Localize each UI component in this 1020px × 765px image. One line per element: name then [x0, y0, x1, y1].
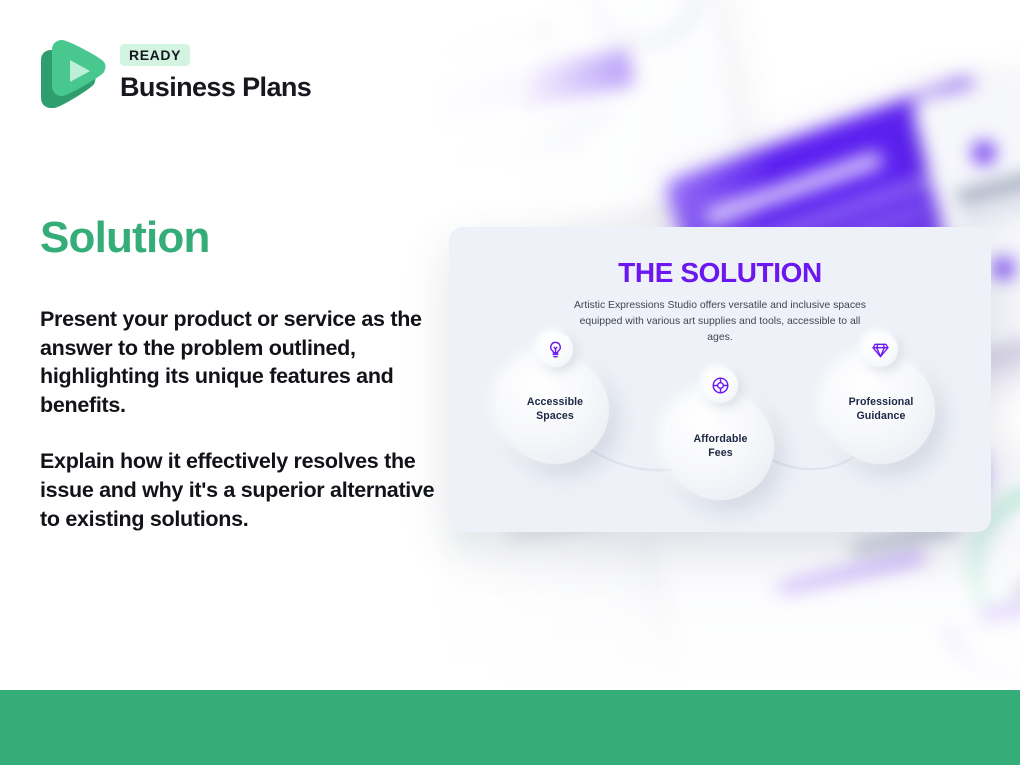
feature-bubble-professional-guidance[interactable]: Professional Guidance	[827, 356, 935, 464]
feature-bubble-label: Affordable Fees	[694, 433, 748, 460]
brand-text: READY Business Plans	[120, 38, 311, 101]
bg-ring-top	[573, 0, 714, 58]
presentation-slide: READY Business Plans Solution Present yo…	[0, 0, 1020, 765]
feature-label-line-1: Accessible	[527, 396, 583, 410]
lifebuoy-icon	[703, 368, 738, 403]
ready-badge: READY	[120, 44, 190, 66]
body-copy: Present your product or service as the a…	[40, 305, 440, 533]
feature-label-line-1: Professional	[849, 396, 914, 410]
page-title: Solution	[40, 215, 210, 261]
body-paragraph-2: Explain how it effectively resolves the …	[40, 447, 440, 533]
body-paragraph-1: Present your product or service as the a…	[40, 305, 440, 419]
play-triangle-logo-icon	[40, 38, 106, 118]
feature-label-line-1: Affordable	[694, 433, 748, 447]
feature-bubbles: Accessible Spaces Affordable Fees	[449, 227, 991, 532]
brand-title: Business Plans	[120, 73, 311, 101]
feature-label-line-2: Guidance	[849, 410, 914, 424]
feature-label-line-2: Fees	[694, 447, 748, 461]
feature-bubble-label: Professional Guidance	[849, 396, 914, 423]
brand-lockup: READY Business Plans	[40, 38, 311, 118]
feature-bubble-affordable-fees[interactable]: Affordable Fees	[667, 393, 774, 500]
feature-bubble-label: Accessible Spaces	[527, 396, 583, 423]
solution-card: THE SOLUTION Artistic Expressions Studio…	[449, 227, 991, 532]
feature-bubble-accessible-spaces[interactable]: Accessible Spaces	[501, 356, 609, 464]
feature-label-line-2: Spaces	[527, 410, 583, 424]
diamond-icon	[863, 332, 898, 367]
lightbulb-icon	[538, 332, 573, 367]
footer-bar	[0, 690, 1020, 765]
